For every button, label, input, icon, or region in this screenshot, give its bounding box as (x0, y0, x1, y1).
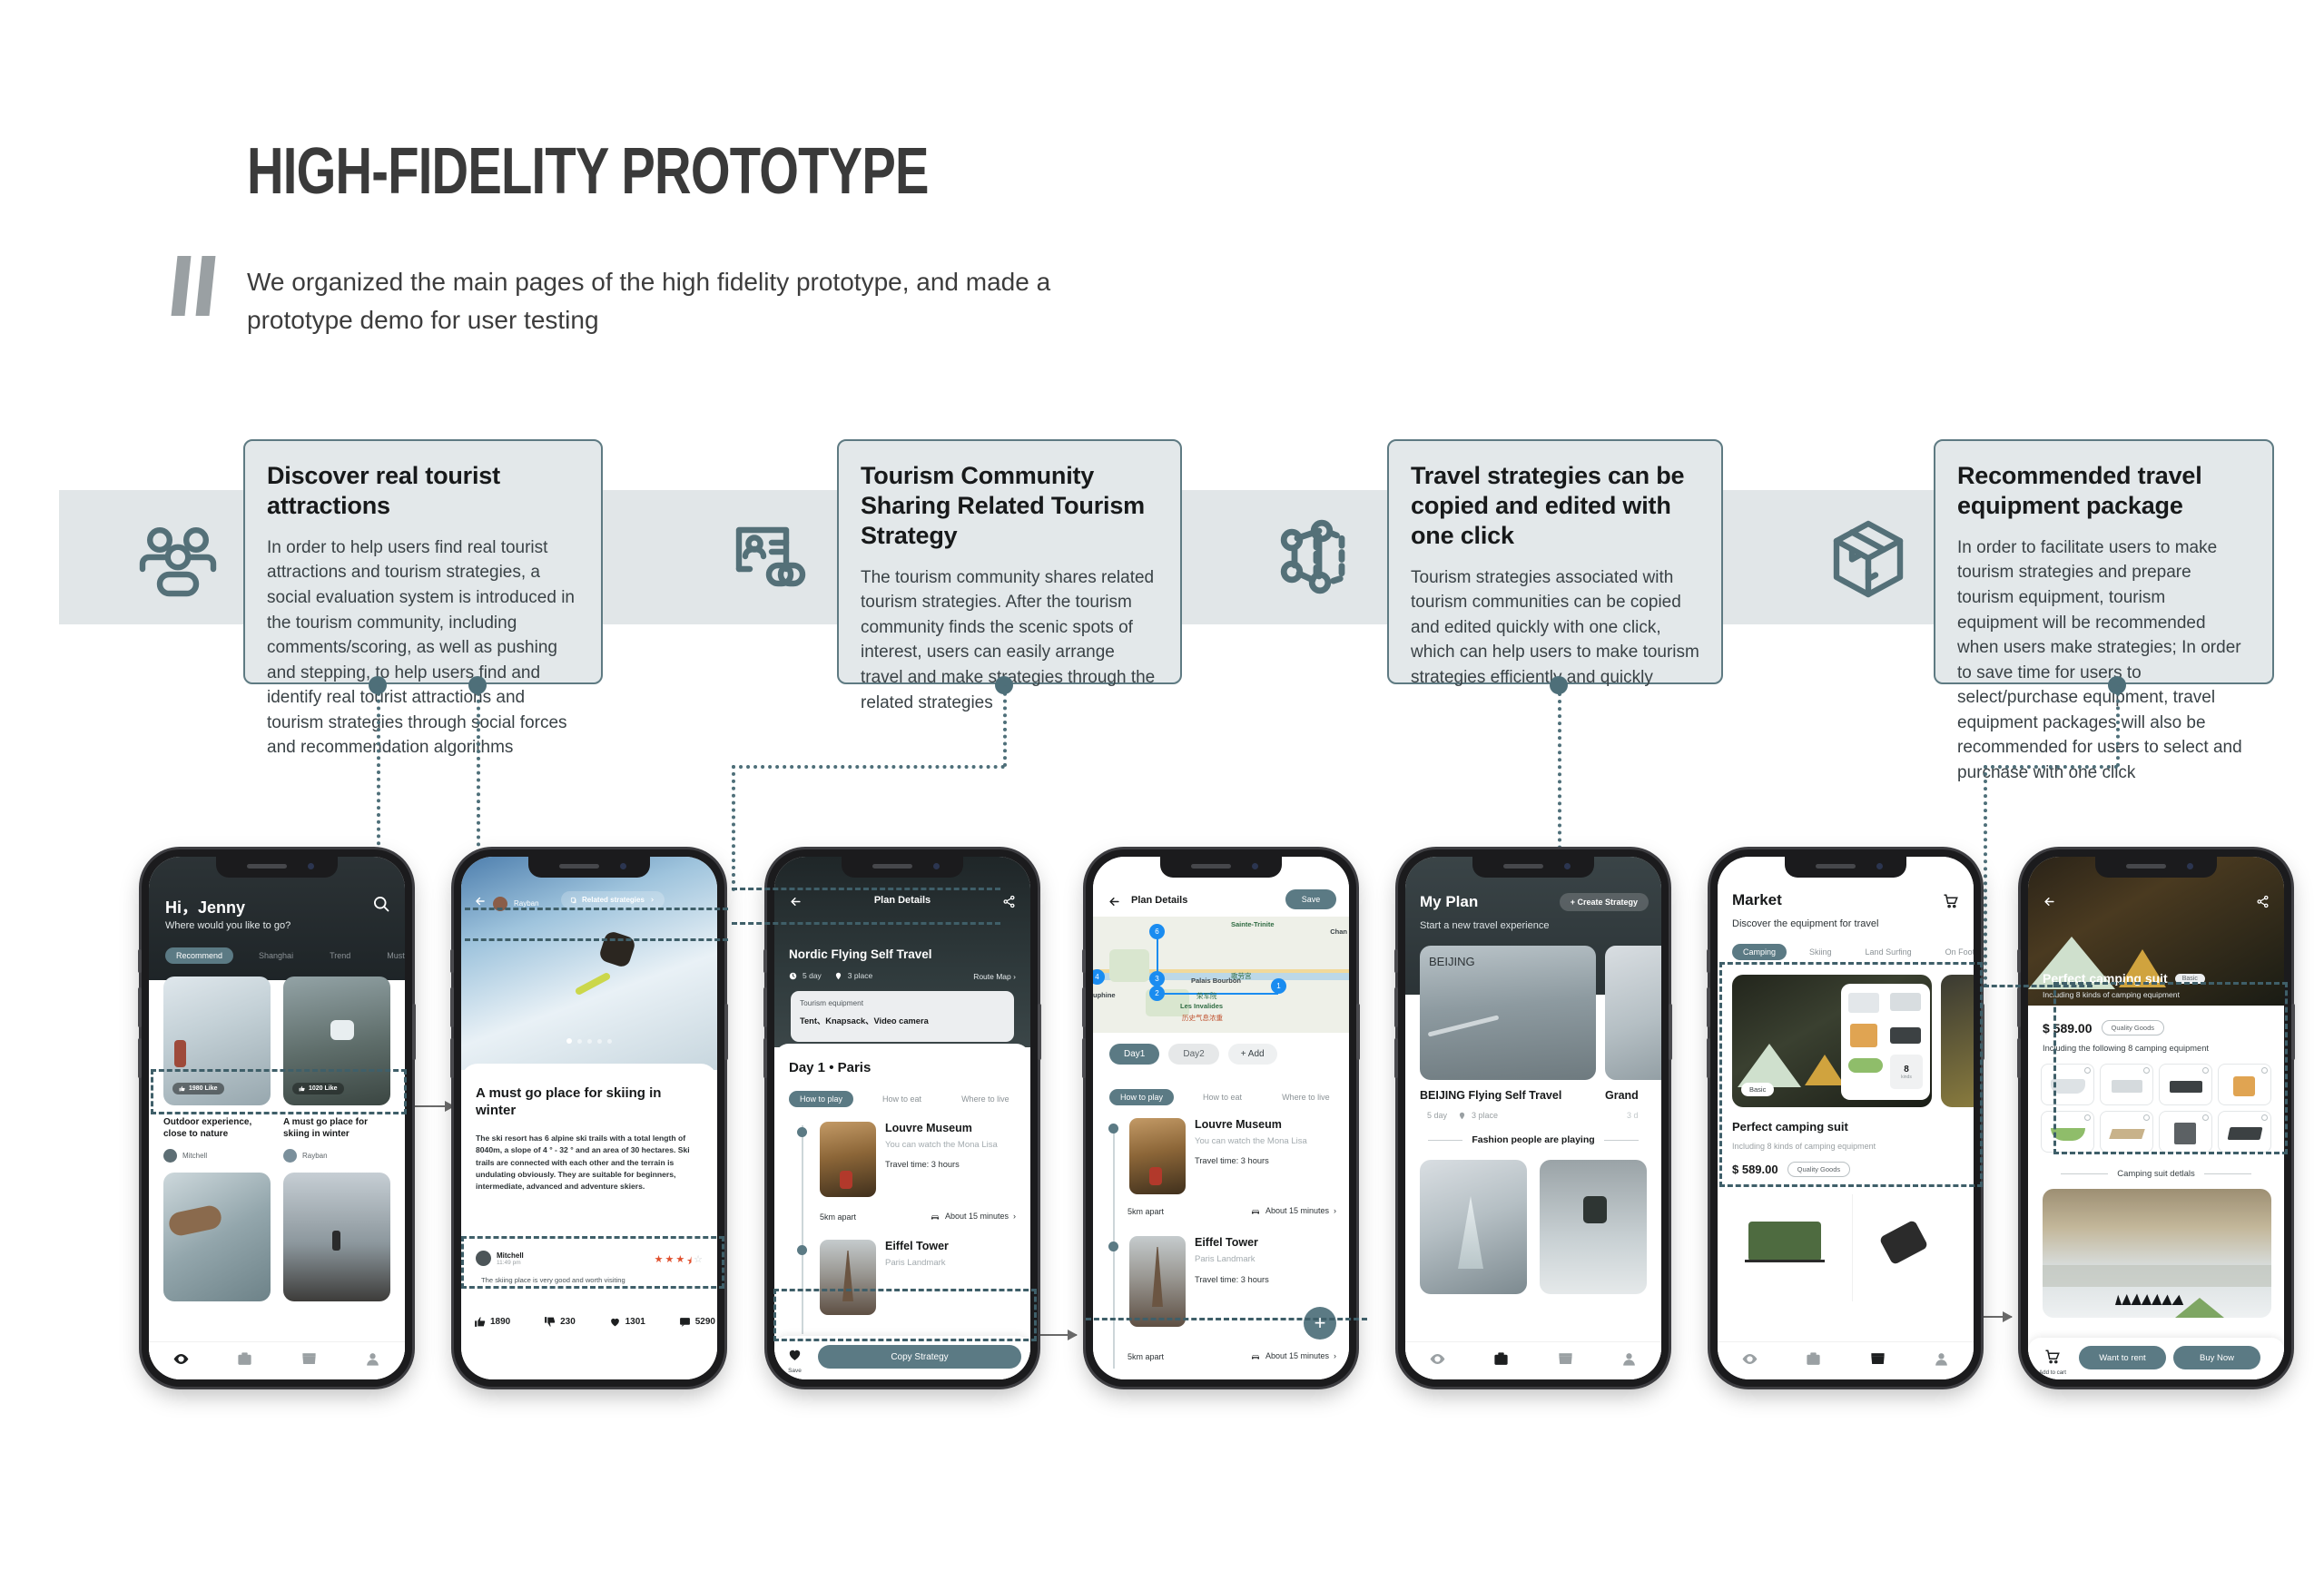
highlight-market-product (1719, 962, 1983, 1187)
plan-edit-nav-title: Plan Details (1131, 895, 1187, 906)
stop-time-1: Travel time: 3 hours (1195, 1156, 1331, 1165)
map-label-cn3: 历史气息浓重 (1182, 1013, 1223, 1023)
phone-home: Hi，Jenny Where would you like to go? Rec… (142, 849, 412, 1387)
feature-card-3-body: Tourism strategies associated with touri… (1411, 565, 1699, 691)
stat-favorites[interactable]: 1301 (609, 1316, 645, 1328)
stat-favorites-value: 1301 (625, 1317, 645, 1327)
market-tab-camping[interactable]: Camping (1732, 944, 1787, 960)
fashion-image-2[interactable] (1540, 1160, 1647, 1294)
post-body: The ski resort has 6 alpine ski trails w… (476, 1133, 704, 1193)
page-title: HIGH-FIDELITY PROTOTYPE (247, 134, 929, 209)
save-action[interactable]: Save (787, 1347, 803, 1374)
plan-nav-title: Plan Details (874, 895, 931, 906)
buy-now-button[interactable]: Buy Now (2173, 1346, 2260, 1369)
highlight-plan-edit-fab (1086, 1318, 1367, 1320)
carousel-dots[interactable] (566, 1038, 612, 1044)
segtab-how-to-eat[interactable]: How to eat (1192, 1089, 1253, 1105)
share-icon[interactable] (1002, 895, 1016, 913)
feed-author-1: Mitchell (163, 1149, 207, 1163)
phone-notch (1472, 857, 1594, 878)
tab-recommend[interactable]: Recommend (165, 947, 233, 964)
day-tab-2[interactable]: Day2 (1168, 1044, 1218, 1065)
day-tabs: Day1 Day2 + Add (1109, 1044, 1277, 1065)
route-map-label: Route Map (973, 972, 1011, 981)
stop-transit-2[interactable]: About 15 minutes› (1250, 1350, 1336, 1361)
avatar (163, 1149, 177, 1163)
highlight-copy-strategy (773, 1289, 1037, 1341)
stat-dislikes[interactable]: 230 (544, 1316, 576, 1328)
add-to-cart-label: Add to cart (2039, 1369, 2066, 1376)
bottom-tabbar (1718, 1341, 1974, 1379)
save-label: Save (787, 1368, 803, 1374)
feature-card-3: Travel strategies can be copied and edit… (1387, 439, 1723, 684)
timeline-dot-1 (797, 1127, 807, 1137)
phone-notch (1785, 857, 1906, 878)
tab-profile-icon[interactable] (1620, 1350, 1638, 1372)
stop-time-1: Travel time: 3 hours (885, 1160, 1021, 1169)
segtab-where-to-live[interactable]: Where to live (950, 1091, 1020, 1107)
tab-market-icon[interactable] (300, 1350, 318, 1372)
stat-dislikes-value: 230 (560, 1317, 576, 1327)
map-pin-6[interactable]: 6 (1149, 924, 1165, 939)
stat-comments-value: 5290 (695, 1317, 715, 1327)
feature-card-1-title: Discover real tourist attractions (267, 461, 579, 521)
stop-info-1: Louvre Museum You can watch the Mona Lis… (1195, 1118, 1331, 1165)
stop-note-2: Paris Landmark (1195, 1254, 1331, 1264)
plan-card-meta-1: 5 day 3 place (1427, 1111, 1498, 1120)
flow-arrow-1 (407, 1105, 454, 1107)
feature-card-1: Discover real tourist attractions In ord… (243, 439, 603, 684)
tab-market-icon[interactable] (1557, 1350, 1574, 1372)
stop-transit-1[interactable]: About 15 minutes› (1250, 1205, 1336, 1216)
tab-plan-icon[interactable] (236, 1350, 253, 1372)
segtab-how-to-play[interactable]: How to play (789, 1091, 853, 1107)
my-plan-title: My Plan (1420, 893, 1478, 911)
stop-note-1: You can watch the Mona Lisa (885, 1140, 1021, 1151)
market-title: Market (1732, 891, 1782, 909)
stop-info-2: Eiffel Tower Paris Landmark (885, 1240, 1021, 1268)
profile-card-link-icon (724, 515, 812, 603)
post-author-name: Rayban (514, 899, 539, 908)
phone-notch (216, 857, 338, 878)
stop-transit-label-1: About 15 minutes (945, 1212, 1009, 1221)
details-label: Camping suit detlals (2117, 1169, 2195, 1179)
phone-notch (528, 857, 650, 878)
feed-image-3[interactable] (163, 1173, 271, 1301)
tab-must-play[interactable]: Must Play (376, 947, 405, 964)
stop-image-1[interactable] (820, 1122, 876, 1197)
feature-card-2-title: Tourism Community Sharing Related Touris… (861, 461, 1158, 551)
add-day-button[interactable]: + Add (1228, 1044, 1277, 1065)
cart-icon[interactable] (1943, 893, 1959, 914)
stop-transit-label-2: About 15 minutes (1265, 1351, 1329, 1360)
tab-plan-icon[interactable] (1805, 1350, 1822, 1372)
stop-time-2: Travel time: 3 hours (1195, 1275, 1331, 1284)
stop-image-2[interactable] (1129, 1236, 1186, 1327)
connector-line-2v (1003, 685, 1007, 767)
package-box-icon (1825, 515, 1912, 603)
flow-arrow-2 (1031, 1334, 1077, 1336)
tab-discover-icon[interactable] (172, 1350, 190, 1372)
create-strategy-button[interactable]: + Create Strategy (1560, 893, 1649, 911)
stat-likes[interactable]: 1890 (474, 1316, 510, 1328)
feed-title-2[interactable]: A must go place for skiing in winter (283, 1116, 390, 1140)
map-pin-4[interactable]: 4 (1093, 969, 1105, 985)
people-group-icon (134, 515, 222, 603)
back-icon[interactable] (789, 895, 803, 913)
tab-discover-icon[interactable] (1429, 1350, 1446, 1372)
market-subtitle: Discover the equipment for travel (1732, 918, 1878, 929)
market-item-1[interactable] (1732, 1194, 1839, 1301)
connector-line-1a (377, 685, 380, 867)
route-map[interactable]: 6 3 2 1 4 Sainte-Trinite Chan Palais Bou… (1093, 917, 1349, 1033)
plan-meta: 5 day 3 place (789, 971, 872, 980)
tab-profile-icon[interactable] (364, 1350, 381, 1372)
tab-plan-icon[interactable] (1492, 1350, 1510, 1372)
my-plan-subtitle: Start a new travel experience (1420, 920, 1549, 931)
stop-name-2: Eiffel Tower (885, 1240, 1021, 1252)
connector-line-2h (732, 765, 1005, 769)
route-map-link[interactable]: Route Map › (973, 972, 1016, 981)
market-tab-on-foot[interactable]: On Foot (1935, 944, 1974, 960)
stop-note-1: You can watch the Mona Lisa (1195, 1136, 1331, 1147)
copy-strategy-button[interactable]: Copy Strategy (818, 1345, 1021, 1369)
fashion-image-1[interactable] (1420, 1160, 1527, 1294)
tab-shanghai[interactable]: Shanghai (248, 947, 304, 964)
plan-segment-tabs: How to play How to eat Where to live (789, 1091, 1020, 1107)
feature-card-4-body: In order to facilitate users to make tou… (1957, 535, 2250, 785)
stop-transit-label-1: About 15 minutes (1265, 1206, 1329, 1215)
tab-discover-icon[interactable] (1741, 1350, 1758, 1372)
connector-line-4h (1984, 765, 2118, 769)
segtab-how-to-play[interactable]: How to play (1109, 1089, 1174, 1105)
tab-trend[interactable]: Trend (319, 947, 361, 964)
phone-post: Rayban Related strategies A must go plac… (454, 849, 724, 1387)
highlight-product-title-line (1984, 985, 2093, 987)
related-strategies-label: Related strategies (582, 896, 645, 904)
connector-line-4d (1984, 765, 1987, 987)
highlight-feed-likes (151, 1069, 407, 1114)
map-pin-3[interactable]: 3 (1149, 971, 1165, 986)
stop-image-1[interactable] (1129, 1118, 1186, 1194)
related-strategies-button[interactable]: Related strategies (561, 891, 665, 908)
map-label-les-invalides: Les Invalides (1180, 1002, 1223, 1010)
plan-card-duration: 5 day (1427, 1111, 1447, 1120)
highlight-plan-nav-top (732, 888, 1000, 890)
equipment-card[interactable]: Tourism equipment Tent、Knapsack、Video ca… (791, 991, 1014, 1042)
connector-line-2d (732, 765, 735, 891)
map-pin-1[interactable]: 1 (1271, 978, 1286, 994)
bottom-tabbar (1405, 1341, 1661, 1379)
plan-edit-screen: Plan Details Save 6 3 2 1 4 Sainte-Trini… (1093, 857, 1349, 1379)
highlight-plan-nav-bottom (732, 922, 1000, 925)
stat-likes-value: 1890 (490, 1317, 510, 1327)
copy-node-graph-icon (1275, 515, 1362, 603)
create-strategy-label: + Create Strategy (1560, 893, 1649, 911)
feature-card-1-body: In order to help users find real tourist… (267, 535, 579, 761)
stop-info-2: Eiffel Tower Paris Landmark Travel time:… (1195, 1236, 1331, 1284)
feature-card-4: Recommended travel equipment package In … (1934, 439, 2274, 684)
add-stop-fab[interactable]: + (1304, 1307, 1336, 1340)
phone-plan-edit: Plan Details Save 6 3 2 1 4 Sainte-Trini… (1086, 849, 1356, 1387)
home-tabs: Recommend Shanghai Trend Must Play (165, 947, 405, 964)
market-tab-land-surfing[interactable]: Land Surfing (1855, 944, 1923, 960)
stop-name-2: Eiffel Tower (1195, 1236, 1331, 1249)
stop-name-1: Louvre Museum (885, 1122, 1021, 1134)
highlight-post-topbar-top (465, 908, 728, 910)
plan-card-title-2[interactable]: Grand (1605, 1089, 1639, 1102)
stop-note-2: Paris Landmark (885, 1258, 1021, 1268)
day-tab-1[interactable]: Day1 (1109, 1044, 1159, 1065)
phone-notch (2095, 857, 2217, 878)
timeline-dot-2 (1108, 1242, 1118, 1251)
avatar (283, 1149, 297, 1163)
plan-card-image-2[interactable] (1605, 946, 1661, 1080)
product-detail-image[interactable] (2043, 1189, 2271, 1318)
section-divider: Fashion people are playing (1405, 1134, 1661, 1145)
stop-distance-1: 5km apart (1128, 1207, 1164, 1216)
post-title: A must go place for skiing in winter (476, 1085, 703, 1120)
save-button[interactable]: Save (1285, 889, 1336, 909)
search-icon[interactable] (372, 895, 390, 918)
quote-mark-icon (174, 256, 229, 316)
share-icon[interactable] (2256, 895, 2270, 913)
map-label-cn2: 荣军院 (1196, 991, 1217, 1001)
phone-my-plan: My Plan + Create Strategy Start a new tr… (1398, 849, 1669, 1387)
highlight-post-topbar-bottom (465, 938, 728, 941)
home-prompt: Where would you like to go? (165, 920, 290, 931)
plan-duration: 5 day (803, 971, 822, 980)
page-subtitle: We organized the main pages of the high … (247, 263, 1064, 339)
details-divider: Camping suit detlals (2028, 1169, 2284, 1179)
highlight-product-items (2053, 982, 2288, 1154)
feed-author-2: Rayban (283, 1149, 328, 1163)
back-icon[interactable] (1108, 895, 1121, 913)
market-item-2[interactable] (1852, 1194, 1959, 1301)
feed-title-1[interactable]: Outdoor experience, close to nature (163, 1116, 271, 1140)
stop-distance-1: 5km apart (820, 1212, 856, 1222)
add-to-cart-action[interactable]: Add to cart (2039, 1349, 2066, 1376)
plan-card-meta-2: 3 d (1627, 1111, 1639, 1120)
market-tab-skiing[interactable]: Skiing (1798, 944, 1843, 960)
timeline-dot-1 (1108, 1124, 1118, 1134)
phone-notch (1160, 857, 1282, 878)
segtab-where-to-live[interactable]: Where to live (1271, 1089, 1341, 1105)
equipment-list: Tent、Knapsack、Video camera (800, 1014, 1005, 1026)
map-label-cn1: 歌劳宫 (1231, 971, 1252, 981)
bottom-tabbar (149, 1341, 405, 1379)
plan-places: 3 place (848, 971, 872, 980)
section-title: Fashion people are playing (1472, 1134, 1594, 1145)
stop-name-1: Louvre Museum (1195, 1118, 1331, 1131)
stop-distance-2: 5km apart (1128, 1352, 1164, 1361)
market-tabs: Camping Skiing Land Surfing On Foot Cyc (1732, 944, 1974, 960)
stat-comments[interactable]: 5290 (679, 1316, 715, 1328)
timeline-dot-2 (797, 1245, 807, 1255)
feature-card-2: Tourism Community Sharing Related Touris… (837, 439, 1182, 684)
plan-card-title-1[interactable]: BEIJING Flying Self Travel (1420, 1089, 1561, 1102)
home-screen: Hi，Jenny Where would you like to go? Rec… (149, 857, 405, 1379)
tab-profile-icon[interactable] (1933, 1350, 1950, 1372)
slide-canvas: HIGH-FIDELITY PROTOTYPE We organized the… (0, 0, 2324, 1590)
plan-card-badge: BEIJING (1429, 955, 1475, 968)
post-screen: Rayban Related strategies A must go plac… (461, 857, 717, 1379)
tab-market-icon[interactable] (1869, 1350, 1886, 1372)
feature-card-2-body: The tourism community shares related tou… (861, 565, 1158, 715)
connector-line-4v (2116, 685, 2120, 767)
map-label-sainte-trinite: Sainte-Trinite (1231, 920, 1275, 928)
feed-image-4[interactable] (283, 1173, 390, 1301)
plan-title: Nordic Flying Self Travel (789, 947, 932, 961)
map-label-chan: Chan (1330, 927, 1347, 936)
stop-info-1: Louvre Museum You can watch the Mona Lis… (885, 1122, 1021, 1169)
map-pin-2[interactable]: 2 (1149, 986, 1165, 1001)
want-to-rent-button[interactable]: Want to rent (2079, 1346, 2166, 1369)
plan-card-places: 3 place (1472, 1111, 1498, 1120)
plan-edit-segment-tabs: How to play How to eat Where to live (1109, 1089, 1341, 1105)
my-plan-screen: My Plan + Create Strategy Start a new tr… (1405, 857, 1661, 1379)
phone-notch (842, 857, 963, 878)
back-icon[interactable] (2043, 895, 2056, 913)
greeting-text: Hi，Jenny (165, 895, 245, 918)
feature-card-3-title: Travel strategies can be copied and edit… (1411, 461, 1699, 551)
day-title: Day 1 • Paris (789, 1060, 871, 1075)
map-label-uphine: uphine (1093, 991, 1116, 999)
segtab-how-to-eat[interactable]: How to eat (871, 1091, 932, 1107)
equipment-label: Tourism equipment (800, 998, 1005, 1007)
highlight-post-comment (461, 1236, 724, 1289)
feature-card-4-title: Recommended travel equipment package (1957, 461, 2250, 521)
stop-transit-1[interactable]: About 15 minutes› (930, 1211, 1016, 1222)
post-stats: 1890 230 1301 5290 (474, 1316, 715, 1328)
